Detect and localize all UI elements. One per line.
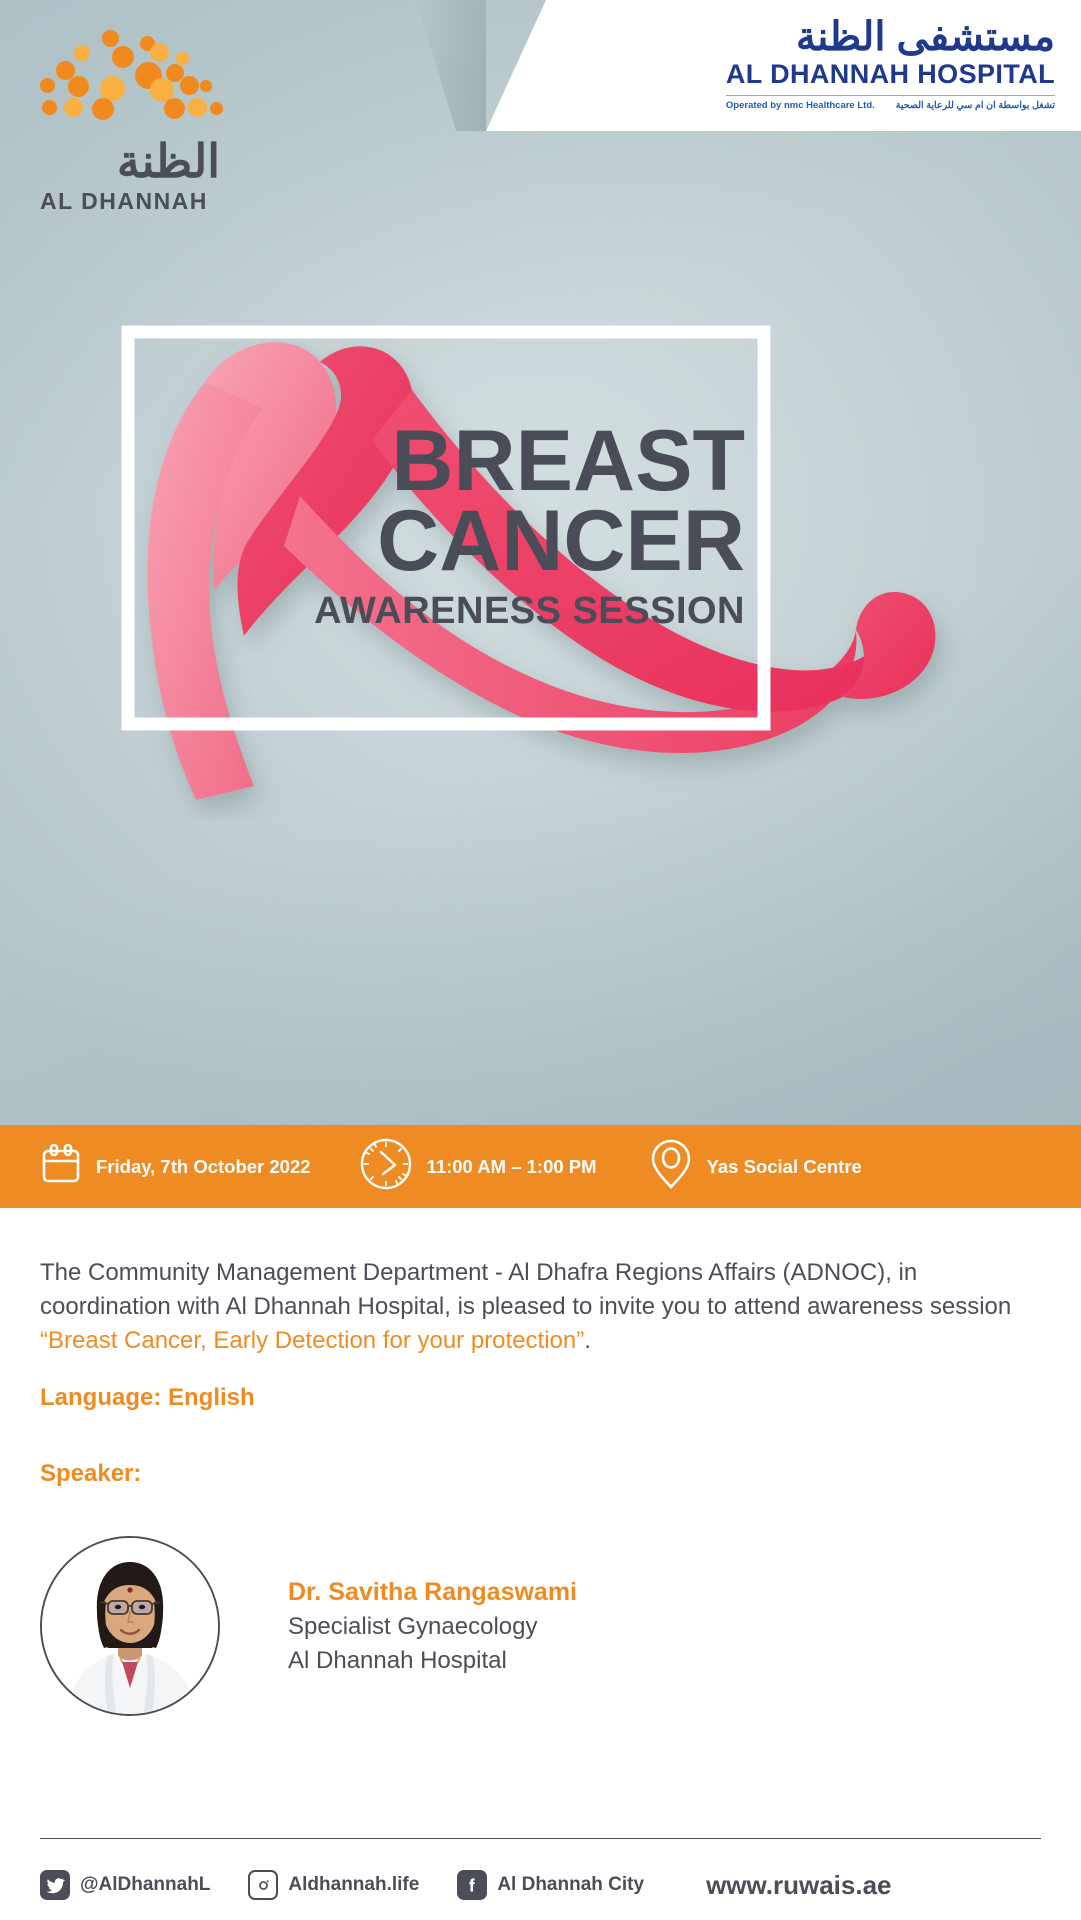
- dot-arc-icon: [40, 28, 210, 128]
- hero-title-line2: CANCER: [377, 493, 745, 589]
- event-venue: Yas Social Centre: [707, 1156, 862, 1178]
- paragraph-highlight: “Breast Cancer, Early Detection for your…: [40, 1327, 584, 1354]
- al-dhannah-logo: الظنة AL DHANNAH: [40, 28, 220, 215]
- hero-subtitle: AWARENESS SESSION: [314, 590, 745, 632]
- location-pin-icon: [649, 1137, 693, 1196]
- speaker-details: Dr. Savitha Rangaswami Specialist Gynaec…: [288, 1578, 577, 1675]
- hospital-name-arabic: مستشفى الظنة: [726, 16, 1055, 58]
- social-item-instagram[interactable]: Aldhannah.life: [248, 1870, 419, 1900]
- speaker-name: Dr. Savitha Rangaswami: [288, 1578, 577, 1607]
- event-time: 11:00 AM – 1:00 PM: [427, 1156, 597, 1178]
- website-url[interactable]: www.ruwais.ae: [706, 1870, 891, 1901]
- hero-section: BREAST CANCER AWARENESS SESSION مستشفى ا…: [0, 0, 1081, 1125]
- footer-bar: @AlDhannahL Aldhannah.life Al Dhannah Ci…: [40, 1862, 1041, 1908]
- twitter-icon: [40, 1870, 70, 1900]
- speaker-portrait: [40, 1536, 220, 1716]
- hospital-divider: [726, 95, 1055, 96]
- poster-root: BREAST CANCER AWARENESS SESSION مستشفى ا…: [0, 0, 1081, 1920]
- info-item-venue: Yas Social Centre: [649, 1137, 862, 1196]
- paragraph-text-1: The Community Management Department - Al…: [40, 1259, 1011, 1320]
- speaker-organisation: Al Dhannah Hospital: [288, 1647, 577, 1675]
- instagram-handle: Aldhannah.life: [288, 1874, 419, 1896]
- pink-awareness-ribbon: BREAST CANCER AWARENESS SESSION: [0, 300, 1081, 820]
- operated-by-row: Operated by nmc Healthcare Ltd. تشغل بوا…: [726, 100, 1055, 111]
- calendar-icon: [40, 1143, 82, 1190]
- speaker-card: Dr. Savitha Rangaswami Specialist Gynaec…: [40, 1536, 1041, 1716]
- footer-divider: [40, 1838, 1041, 1839]
- social-item-facebook[interactable]: Al Dhannah City: [457, 1870, 644, 1900]
- instagram-icon: [248, 1870, 278, 1900]
- invitation-paragraph: The Community Management Department - Al…: [40, 1256, 1041, 1358]
- al-dhannah-arabic: الظنة: [40, 138, 220, 184]
- al-dhannah-hospital-logo: مستشفى الظنة AL DHANNAH HOSPITAL Operate…: [726, 16, 1055, 111]
- language-label: Language: English: [40, 1384, 1041, 1412]
- speaker-label: Speaker:: [40, 1460, 1041, 1488]
- clock-icon: [359, 1137, 413, 1196]
- body-section: The Community Management Department - Al…: [0, 1208, 1081, 1716]
- operated-by-english: Operated by nmc Healthcare Ltd.: [726, 100, 875, 111]
- info-item-date: Friday, 7th October 2022: [40, 1143, 311, 1190]
- info-item-time: 11:00 AM – 1:00 PM: [359, 1137, 597, 1196]
- hospital-name-english: AL DHANNAH HOSPITAL: [726, 60, 1055, 90]
- paragraph-text-2: .: [584, 1327, 591, 1354]
- event-info-bar: Friday, 7th October 2022 11:0: [0, 1125, 1081, 1208]
- al-dhannah-english: AL DHANNAH: [40, 188, 220, 215]
- twitter-handle: @AlDhannahL: [80, 1874, 210, 1896]
- operated-by-arabic: تشغل بواسطة ان ام سي للرعاية الصحية: [896, 100, 1055, 111]
- facebook-handle: Al Dhannah City: [497, 1874, 644, 1896]
- facebook-icon: [457, 1870, 487, 1900]
- speaker-role: Specialist Gynaecology: [288, 1613, 577, 1641]
- event-date: Friday, 7th October 2022: [96, 1156, 311, 1178]
- social-item-twitter[interactable]: @AlDhannahL: [40, 1870, 210, 1900]
